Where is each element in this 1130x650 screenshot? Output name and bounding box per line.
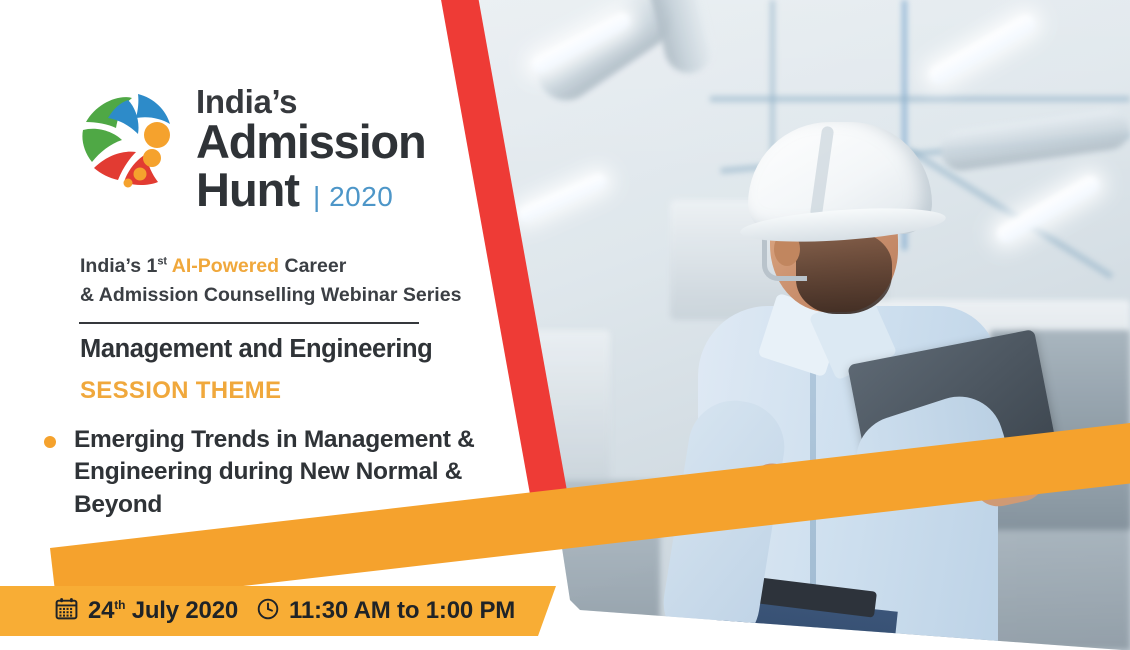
swirl-petals-logo-icon: [78, 78, 182, 190]
bullet-dot-icon: [44, 436, 56, 448]
tagline: India’s 1st AI-Powered Career & Admissio…: [80, 252, 470, 311]
event-date-ordinal: th: [114, 598, 125, 612]
logo-line-hunt: Hunt: [196, 162, 299, 217]
beard: [796, 232, 892, 314]
tagline-suffix: Career: [284, 255, 346, 277]
tagline-ordinal: st: [157, 256, 167, 268]
clock-icon: [256, 597, 280, 626]
event-date-day: 24: [88, 597, 114, 624]
session-theme-text: Emerging Trends in Management & Engineer…: [74, 424, 484, 521]
left-content-panel: India’s Admission Hunt | 2020 India’s 1s…: [0, 0, 480, 650]
photo-scene: [470, 0, 1130, 650]
tagline-prefix: India’s 1: [80, 255, 157, 277]
ceiling-lamp: [515, 171, 609, 224]
tagline-line2: & Admission Counselling Webinar Series: [80, 284, 461, 306]
webinar-promo-banner: India’s Admission Hunt | 2020 India’s 1s…: [0, 0, 1130, 650]
engineer-figure: [620, 70, 1040, 650]
event-time: 11:30 AM to 1:00 PM: [289, 597, 515, 625]
calendar-icon: [54, 596, 79, 626]
brand-logo-text: India’s Admission Hunt | 2020: [196, 78, 425, 217]
schedule-bar: 24th July 2020 11:30 AM to 1:00 PM: [0, 586, 556, 636]
session-theme-item: Emerging Trends in Management & Engineer…: [44, 424, 484, 521]
logo-year: | 2020: [313, 181, 393, 213]
brand-logo: India’s Admission Hunt | 2020: [78, 78, 425, 217]
session-theme-label: SESSION THEME: [80, 377, 281, 405]
session-track-title: Management and Engineering: [80, 335, 480, 364]
logo-line-admission: Admission: [196, 118, 425, 165]
event-date-rest: July 2020: [125, 597, 238, 624]
event-date: 24th July 2020: [88, 597, 238, 625]
logo-line-indias: India’s: [196, 86, 425, 117]
section-divider: [79, 322, 419, 324]
tagline-highlight: AI-Powered: [167, 255, 284, 277]
factory-machine: [470, 330, 610, 480]
